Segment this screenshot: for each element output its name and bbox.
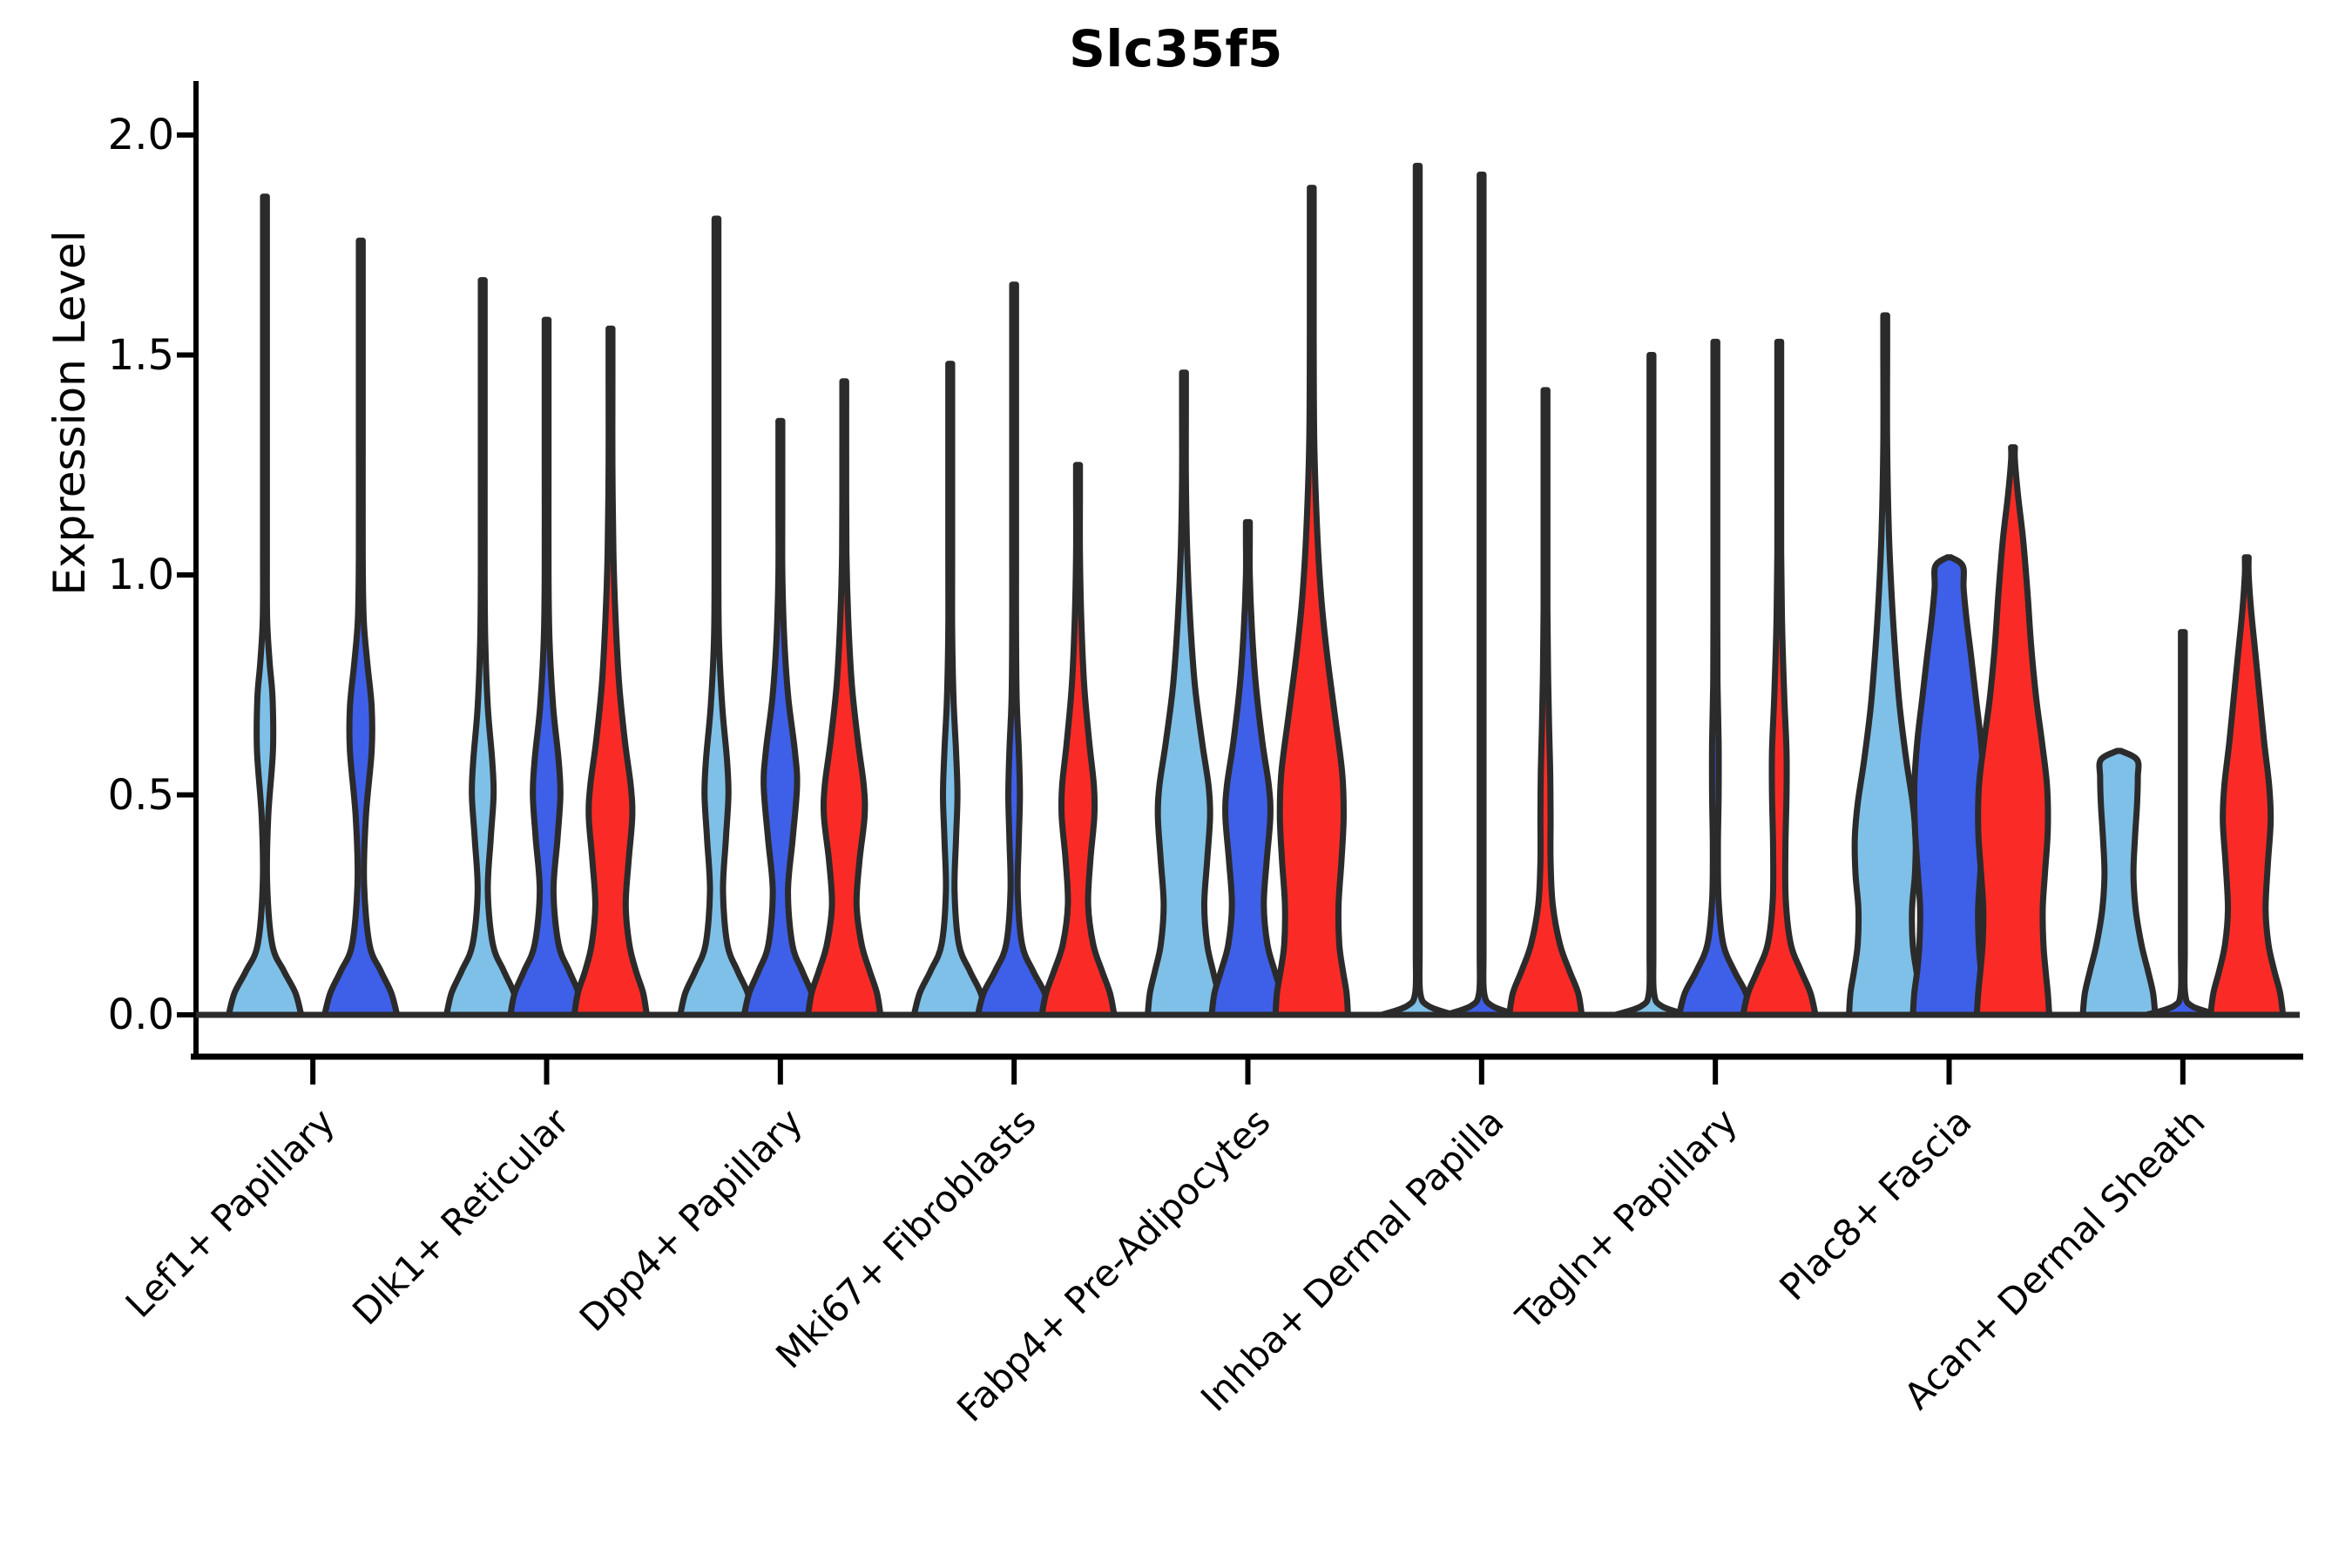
violin-plot-figure: Slc35f5 Expression Level 0.00.51.01.52.0… (0, 0, 2352, 1568)
x-axis-tick-labels: Lef1+ PapillaryDlk1+ ReticularDpp4+ Papi… (0, 0, 2352, 1568)
